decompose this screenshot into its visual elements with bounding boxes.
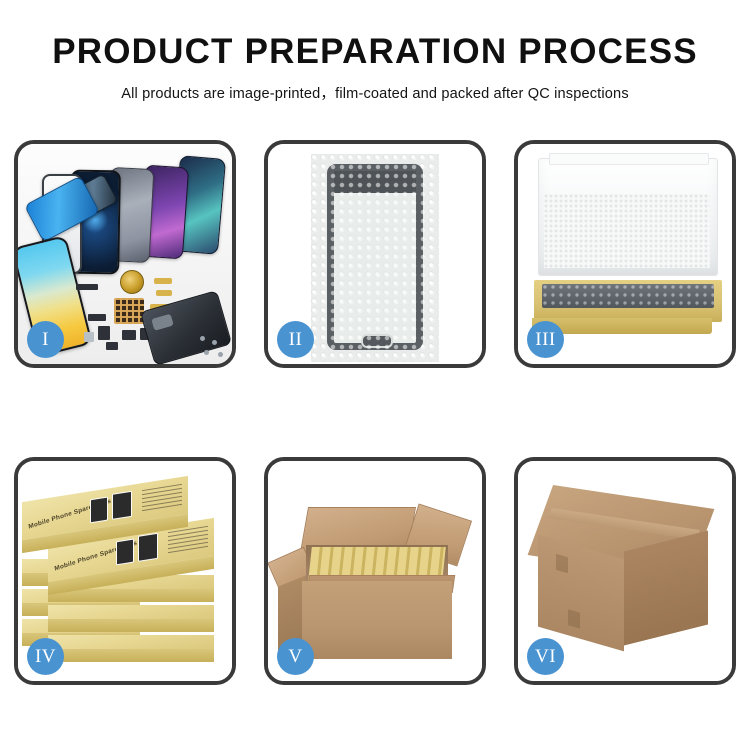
chip-grid-icon	[114, 298, 144, 324]
page-title: PRODUCT PREPARATION PROCESS	[0, 34, 750, 71]
step-panel-3: III	[514, 140, 736, 368]
wrapped-screen-icon	[327, 164, 423, 350]
kraft-box-top-face	[48, 605, 214, 619]
kraft-box-labelled: Mobile Phone Spare Parts	[22, 476, 188, 540]
kraft-box-edge	[48, 605, 214, 619]
step-badge-6: VI	[527, 638, 564, 675]
screw-icon	[204, 350, 209, 355]
flex-cable-icon	[154, 278, 172, 284]
flex-cable-2-icon	[156, 290, 172, 296]
kraft-box-product-image	[138, 533, 158, 562]
kraft-box-product-image	[112, 491, 132, 520]
header: PRODUCT PREPARATION PROCESS All products…	[0, 34, 750, 103]
step-badge-2: II	[277, 321, 314, 358]
step-badge-5: V	[277, 638, 314, 675]
part-connector-icon	[88, 314, 106, 321]
wrapped-screen-in-box-icon	[542, 284, 714, 308]
carton-front-face	[302, 581, 452, 659]
part-module-icon	[122, 330, 136, 340]
kraft-box-top-face	[48, 635, 214, 649]
step-badge-1: I	[27, 321, 64, 358]
screws-group	[198, 334, 228, 360]
kraft-box-product-image	[116, 539, 134, 566]
part-strip-icon	[76, 284, 98, 290]
product-preparation-infographic: PRODUCT PREPARATION PROCESS All products…	[0, 0, 750, 750]
kraft-box-open-icon	[534, 280, 722, 322]
page-subtitle: All products are image-printed，film-coat…	[0, 82, 750, 103]
step-badge-4: IV	[27, 638, 64, 675]
carton-handle-mark	[568, 609, 580, 628]
part-camera-icon	[98, 326, 110, 340]
step-panel-1: I	[14, 140, 236, 368]
step-badge-3: III	[527, 321, 564, 358]
screw-icon	[218, 352, 223, 357]
kraft-box-spec-lines	[142, 484, 182, 512]
part-small-icon	[106, 342, 118, 350]
kraft-box-product-image	[90, 497, 108, 524]
step-panel-5: V	[264, 457, 486, 685]
kraft-box-side-face	[48, 649, 214, 662]
foam-padding-icon	[544, 194, 710, 268]
kraft-box-stack: Mobile Phone Spare Parts Mobile Phone Sp…	[22, 477, 232, 667]
carton-handle-mark	[556, 554, 568, 573]
kraft-box-edge	[48, 635, 214, 649]
kraft-box-side-face	[48, 619, 214, 632]
step-panel-6: VI	[514, 457, 736, 685]
screw-icon	[200, 336, 205, 341]
steps-grid: I II III	[14, 140, 736, 685]
screw-icon	[212, 340, 217, 345]
part-screw-plate-icon	[84, 332, 94, 342]
kraft-box-spec-lines	[168, 526, 208, 554]
step-panel-4: Mobile Phone Spare Parts Mobile Phone Sp…	[14, 457, 236, 685]
speaker-coil-icon	[120, 270, 144, 294]
step-panel-2: II	[264, 140, 486, 368]
